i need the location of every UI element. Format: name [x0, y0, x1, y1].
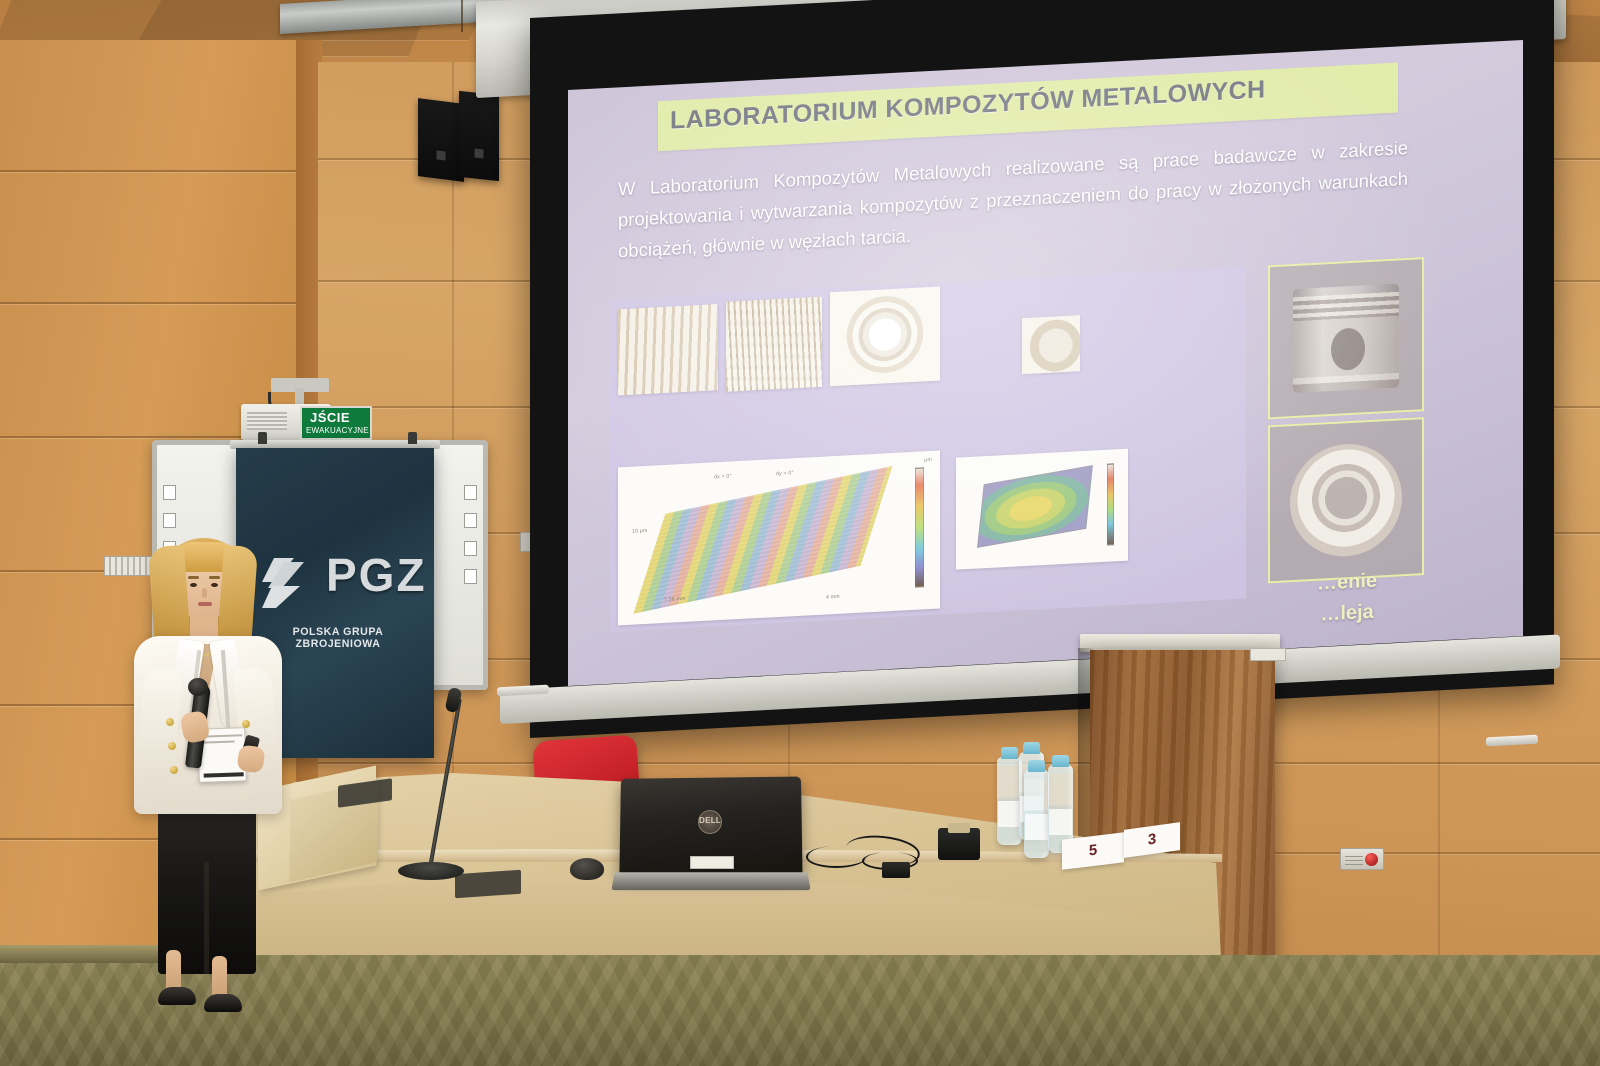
colorbar	[1107, 463, 1114, 545]
bushing-shape	[1290, 441, 1402, 559]
bottle-cap	[1023, 742, 1040, 754]
fiber-micrograph	[618, 304, 718, 395]
conference-room-photo: LABORATORIUM KOMPOZYTÓW METALOWYCH W Lab…	[0, 0, 1600, 1066]
bottle-label	[1049, 809, 1072, 835]
wall-speaker-left	[418, 98, 464, 182]
surface-topography-2d-map	[956, 449, 1128, 570]
dell-logo-icon: DELL	[698, 810, 722, 834]
eye-left	[190, 583, 197, 587]
banner-foot-right	[408, 432, 417, 444]
slide-image-panel: 10 µm 7.56 mm 4 mm dx = 0° dy = 0° µm	[610, 266, 1246, 631]
laptop-sticker	[690, 856, 734, 869]
bushing-cross-section	[830, 287, 940, 387]
surface-mesh	[633, 466, 892, 614]
speaker-logo-icon	[475, 149, 484, 159]
screen-surface: LABORATORIUM KOMPOZYTÓW METALOWYCH W Lab…	[568, 40, 1523, 686]
piston-pin-bore-icon	[1331, 327, 1365, 371]
microphone-base[interactable]	[398, 862, 464, 880]
laptop-keyboard-base[interactable]	[611, 872, 810, 890]
whiteboard-button-menu[interactable]	[464, 541, 477, 556]
plot3d-annotation-right: dy = 0°	[776, 470, 794, 477]
eyebrow-right	[209, 576, 220, 579]
whiteboard-button-pen[interactable]	[163, 513, 176, 528]
trouser-seam	[204, 862, 209, 974]
plot3d-colorbar-unit: µm	[924, 457, 932, 463]
eyebrow-left	[188, 576, 199, 579]
desk-cable-port[interactable]	[455, 870, 521, 899]
blazer-button	[170, 766, 178, 774]
lectern-badge	[1250, 648, 1286, 661]
slide: LABORATORIUM KOMPOZYTÓW METALOWYCH W Lab…	[568, 40, 1523, 686]
plot3d-x-label: 7.56 mm	[664, 596, 686, 603]
device-stand[interactable]	[938, 828, 980, 860]
presenter	[120, 532, 300, 1032]
bottle-label	[998, 801, 1021, 827]
water-bottle[interactable]	[1024, 770, 1049, 858]
blazer-button	[168, 742, 176, 750]
wall-speaker-right	[459, 91, 499, 181]
shoe-right	[204, 994, 242, 1012]
small-specimen-detail	[1022, 315, 1080, 374]
mouth	[198, 602, 212, 606]
bearing-bushing-photo	[1268, 417, 1424, 583]
panel-label	[1345, 854, 1363, 865]
exit-sign-line2: EWAKUACYJNE	[306, 426, 369, 435]
plot3d-z-label: 10 µm	[632, 528, 648, 535]
projection-screen: LABORATORIUM KOMPOZYTÓW METALOWYCH W Lab…	[530, 0, 1554, 738]
ceiling-wire	[461, 0, 463, 32]
whiteboard-button-copy[interactable]	[464, 485, 477, 500]
whiteboard-button-save[interactable]	[464, 513, 477, 528]
plot3d-annotation-left: dx = 0°	[714, 473, 732, 480]
computer-mouse[interactable]	[570, 858, 604, 880]
slide-body-text: W Laboratorium Kompozytów Metalowych rea…	[618, 132, 1408, 267]
bottle-cap	[1028, 760, 1045, 772]
bottle-cap	[1052, 755, 1069, 767]
eye-right	[211, 583, 218, 587]
speaker-logo-icon	[437, 151, 446, 161]
colorbar	[915, 467, 924, 587]
emergency-exit-sign: JŚCIE EWAKUACYJNE	[300, 406, 372, 440]
microphone-head-icon	[188, 678, 208, 696]
whiteboard-button-power[interactable]	[464, 569, 477, 584]
engine-piston-photo	[1268, 257, 1424, 419]
laptop-brand-text: DELL	[699, 816, 721, 825]
topography-map	[977, 465, 1093, 548]
projector-vent-icon	[247, 412, 287, 430]
blazer-button	[166, 718, 174, 726]
bottle-cap	[1001, 747, 1018, 759]
badge-text	[203, 750, 243, 751]
exit-sign-line1: JŚCIE	[310, 410, 350, 425]
nose	[202, 588, 207, 598]
plot3d-y-label: 4 mm	[826, 594, 840, 601]
bottle-label	[1025, 814, 1048, 840]
alarm-indicator-icon	[1365, 853, 1378, 866]
piston-shape	[1293, 283, 1399, 393]
surface-topography-3d-plot: 10 µm 7.56 mm 4 mm dx = 0° dy = 0° µm	[618, 451, 940, 626]
whiteboard-button-page[interactable]	[163, 485, 176, 500]
fire-alarm-panel[interactable]	[1340, 848, 1384, 870]
pgz-wordmark: PGZ	[326, 552, 427, 598]
rough-surface-micrograph	[726, 297, 822, 392]
shoe-left	[158, 987, 196, 1005]
power-adapter	[882, 862, 910, 878]
banner-foot-left	[258, 432, 267, 444]
